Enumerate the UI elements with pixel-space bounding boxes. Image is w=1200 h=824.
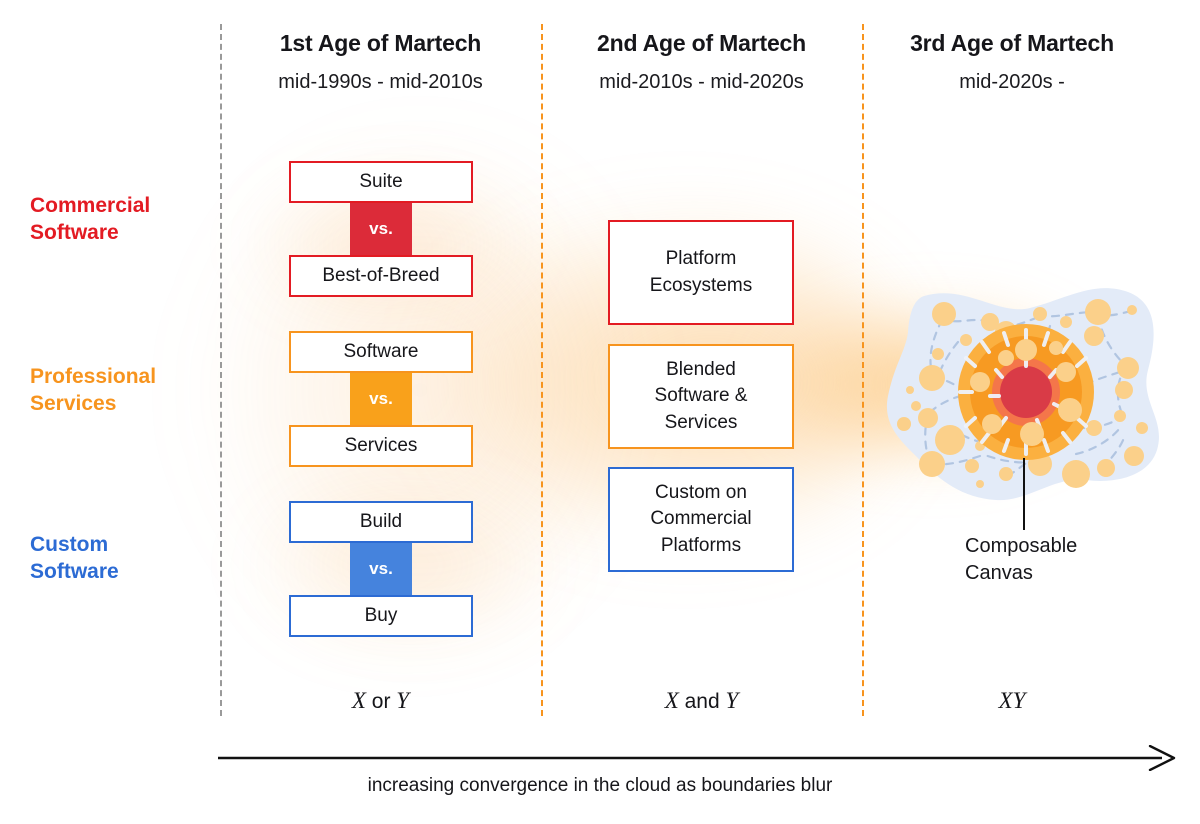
column-header-age1: 1st Age of Martech mid-1990s - mid-2010s [220,30,541,94]
convergence-caption: increasing convergence in the cloud as b… [0,775,1200,797]
box-custom-on-commercial-platforms[interactable]: Custom on Commercial Platforms [608,467,794,572]
formula-age2: X and Y [541,688,862,714]
box-suite[interactable]: Suite [289,161,473,203]
row-label-professional-services: Professional Services [30,364,156,418]
convergence-arrow [218,745,1176,771]
box-blended-software-services[interactable]: Blended Software & Services [608,344,794,449]
column-header-age3: 3rd Age of Martech mid-2020s - [862,30,1162,94]
formula-age3-x: X [999,688,1013,713]
vs-connector-professional: vs. [350,373,412,425]
formula-age3-y: Y [1013,688,1026,713]
composable-canvas-svg [880,278,1170,518]
composable-canvas-leader-line [1023,458,1025,530]
martech-ages-diagram: 1st Age of Martech mid-1990s - mid-2010s… [0,0,1200,824]
column-header-age2: 2nd Age of Martech mid-2010s - mid-2020s [541,30,862,94]
formula-age2-x: X [665,688,679,713]
formula-age2-operator: and [679,690,726,713]
column-title-age2: 2nd Age of Martech [541,30,862,58]
formula-age1-y: Y [396,688,409,713]
formula-age3: XY [862,688,1162,714]
composable-canvas-label: Composable Canvas [965,533,1077,587]
composable-canvas-blob[interactable] [880,278,1170,518]
row-label-commercial-software: Commercial Software [30,193,150,247]
vs-group-software-vs-services: Software vs. Services [289,331,473,467]
box-platform-ecosystems[interactable]: Platform Ecosystems [608,220,794,325]
divider-age2-age3 [862,24,864,716]
box-services[interactable]: Services [289,425,473,467]
column-subtitle-age2: mid-2010s - mid-2020s [541,70,862,94]
box-best-of-breed[interactable]: Best-of-Breed [289,255,473,297]
divider-age1-left [220,24,222,716]
vs-connector-commercial: vs. [350,203,412,255]
formula-age1: X or Y [220,688,541,714]
formula-age1-operator: or [366,690,396,713]
column-subtitle-age1: mid-1990s - mid-2010s [220,70,541,94]
column-title-age1: 1st Age of Martech [220,30,541,58]
column-subtitle-age3: mid-2020s - [862,70,1162,94]
vs-connector-custom: vs. [350,543,412,595]
row-label-custom-software: Custom Software [30,532,119,586]
divider-age1-age2 [541,24,543,716]
formula-age1-x: X [352,688,366,713]
box-build[interactable]: Build [289,501,473,543]
convergence-arrow-svg [218,745,1176,771]
column-title-age3: 3rd Age of Martech [862,30,1162,58]
formula-age2-y: Y [725,688,738,713]
vs-group-suite-vs-best-of-breed: Suite vs. Best-of-Breed [289,161,473,297]
vs-group-build-vs-buy: Build vs. Buy [289,501,473,637]
box-buy[interactable]: Buy [289,595,473,637]
box-software[interactable]: Software [289,331,473,373]
